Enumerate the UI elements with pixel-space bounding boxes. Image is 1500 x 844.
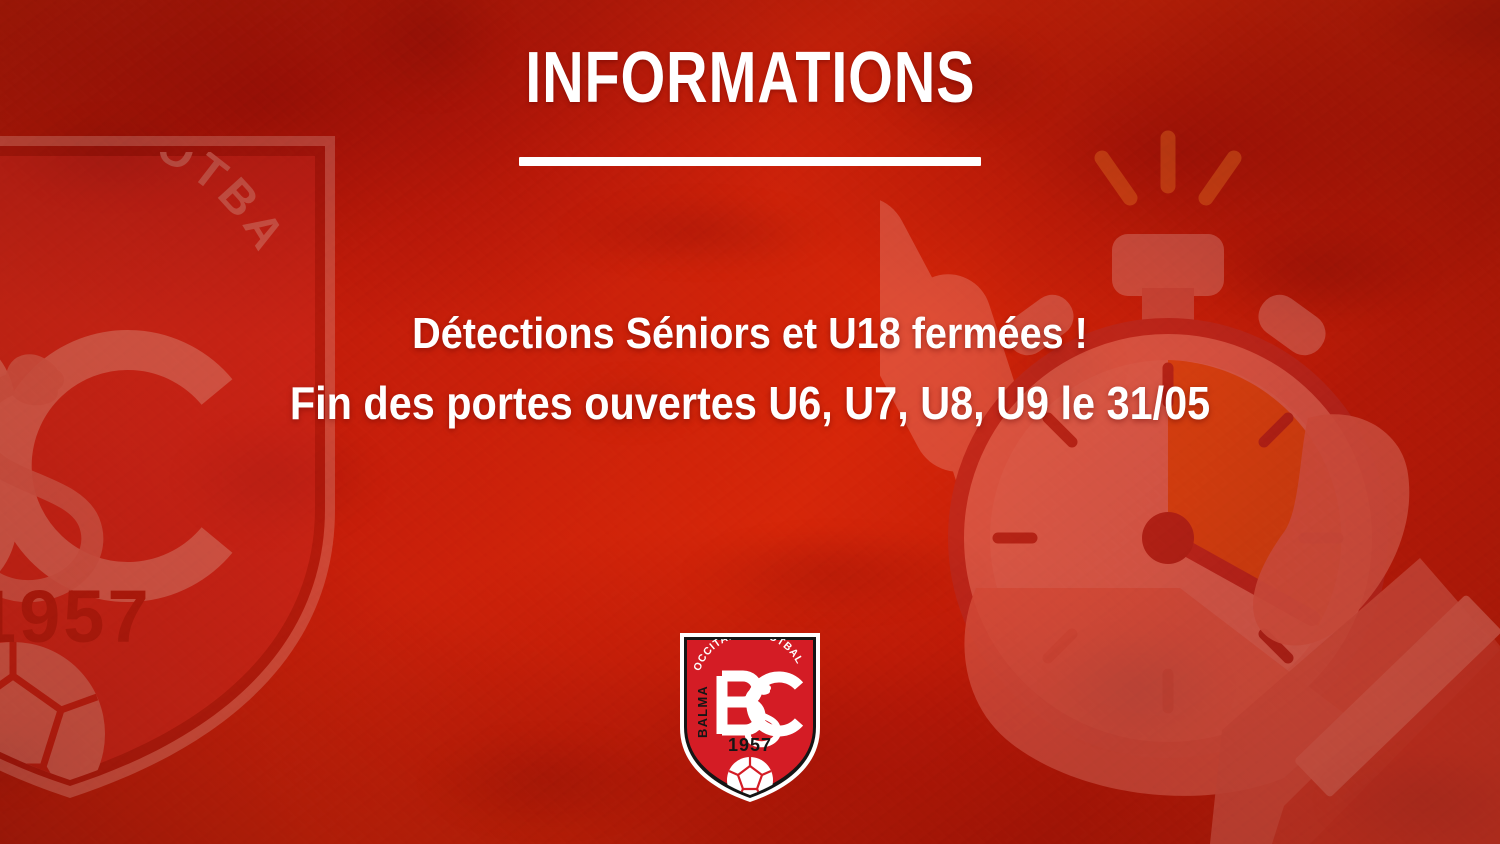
poster-title-block: INFORMATIONS — [0, 44, 1500, 113]
poster-body-block: Détections Séniors et U18 fermées ! Fin … — [0, 312, 1500, 426]
body-line-2: Fin des portes ouvertes U6, U7, U8, U9 l… — [75, 380, 1425, 426]
body-line-1: Détections Séniors et U18 fermées ! — [75, 312, 1425, 356]
crest-year: 1957 — [728, 735, 772, 755]
stopwatch-pivot — [1142, 512, 1194, 564]
page-title: INFORMATIONS — [525, 44, 975, 113]
alarm-rays-icon — [1102, 138, 1234, 198]
stopwatch-illustration — [880, 118, 1500, 844]
club-crest-logo: OCCITANIE FOOTBALL BALMA 1957 — [677, 628, 823, 803]
title-underline — [519, 157, 981, 166]
crest-side-text: BALMA — [695, 685, 710, 738]
poster-canvas: OCCITANIE FOOTBALL 1957 — [0, 0, 1500, 844]
watermark-club-crest: OCCITANIE FOOTBALL 1957 — [0, 112, 355, 812]
